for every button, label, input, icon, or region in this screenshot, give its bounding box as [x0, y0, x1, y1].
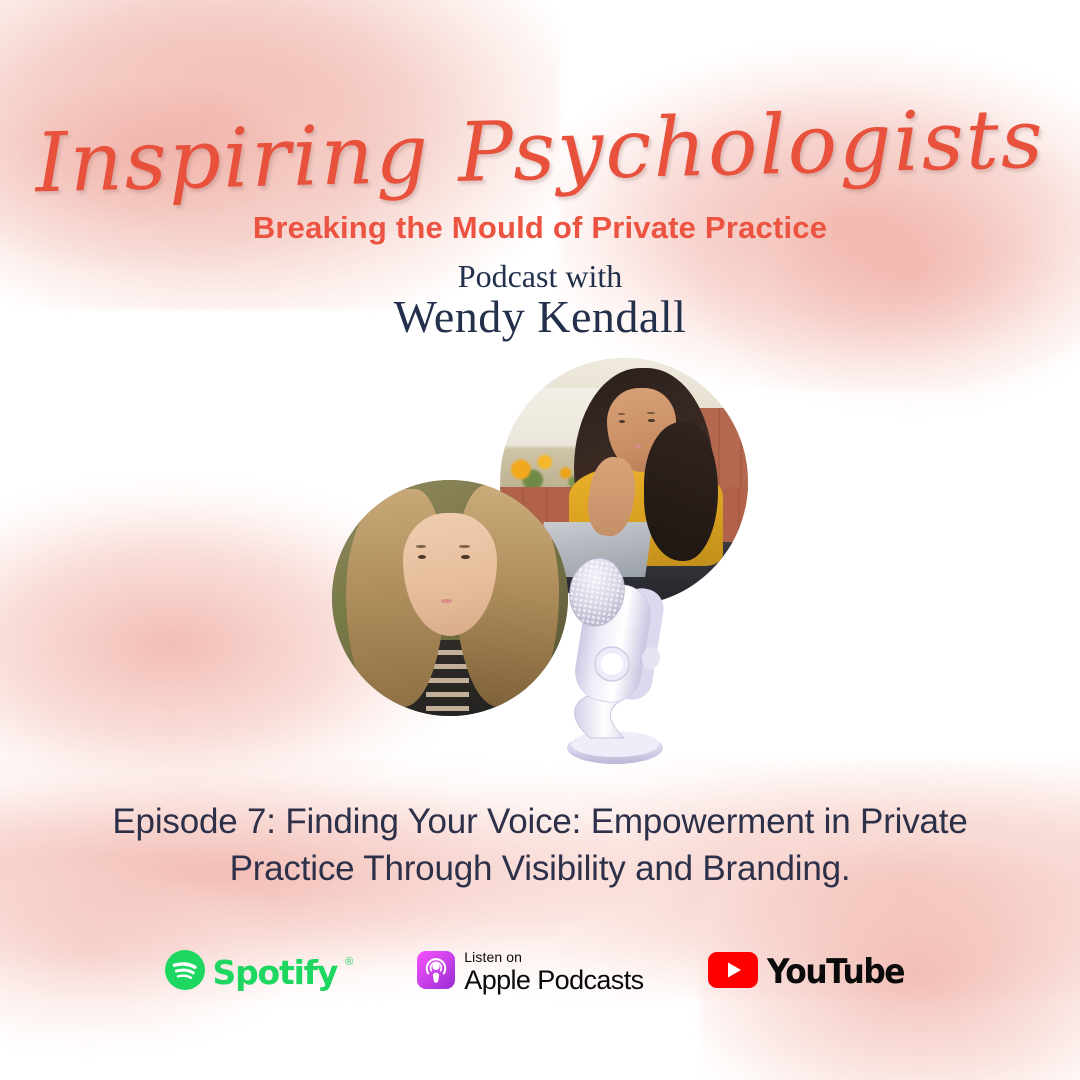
spotify-badge[interactable]: Spotify ® — [165, 950, 354, 995]
youtube-wordmark: YouTube — [767, 952, 904, 992]
guest-eye-right — [648, 419, 654, 422]
apple-listen-on-label: Listen on — [464, 950, 643, 964]
guest-brow-right — [647, 412, 655, 414]
guest-eye-left — [619, 420, 625, 423]
episode-title: Episode 7: Finding Your Voice: Empowerme… — [110, 798, 970, 892]
podcast-episode-poster: Inspiring Psychologists Breaking the Mou… — [0, 0, 1080, 1080]
apple-podcasts-icon — [417, 951, 455, 994]
platform-badges: Spotify ® — [0, 942, 1080, 1002]
show-title: Inspiring Psychologists — [0, 91, 1080, 212]
show-tagline: Breaking the Mould of Private Practice — [0, 210, 1080, 246]
spotify-wordmark: Spotify — [213, 953, 338, 992]
host-brow-right — [459, 545, 469, 548]
guest-lips — [634, 445, 642, 448]
microphone-icon — [520, 540, 700, 780]
spotify-registered-mark: ® — [345, 956, 353, 968]
host-eye-left — [418, 555, 426, 559]
youtube-badge[interactable]: YouTube — [708, 952, 916, 993]
guest-brow-left — [618, 413, 626, 415]
apple-podcasts-wordmark: Apple Podcasts — [464, 967, 643, 994]
host-eye-right — [461, 555, 469, 559]
youtube-play-icon — [708, 952, 758, 993]
host-brow-left — [416, 545, 426, 548]
host-lips — [441, 599, 451, 603]
host-name: Wendy Kendall — [0, 290, 1080, 343]
apple-podcasts-badge[interactable]: Listen on Apple Podcasts — [417, 950, 643, 994]
spotify-icon — [165, 950, 205, 995]
